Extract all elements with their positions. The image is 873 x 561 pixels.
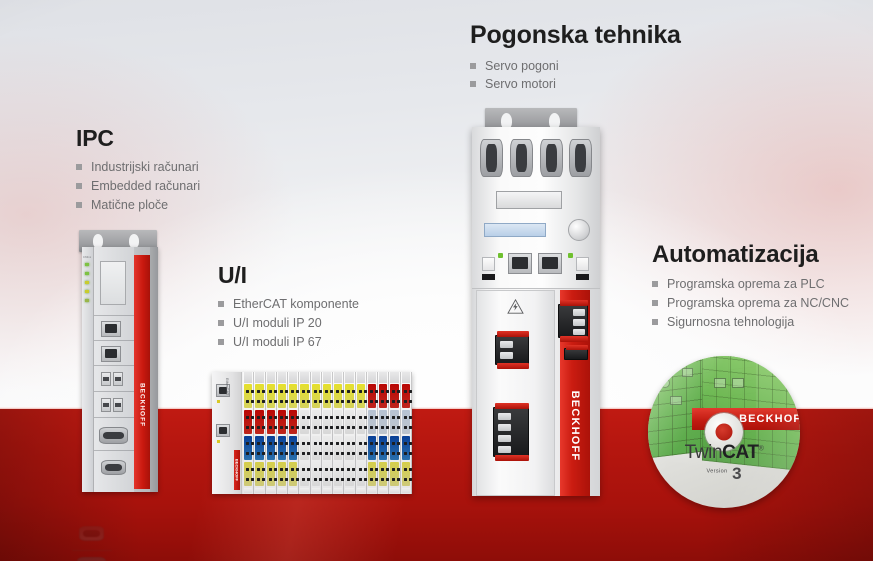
port-blank-cover — [482, 257, 495, 271]
terminal-contact-pin — [336, 452, 339, 455]
drive-ethercat-port-row — [482, 251, 590, 277]
terminal-band — [267, 436, 275, 460]
ipc-side-panel — [150, 247, 158, 492]
io-terminal-module — [266, 372, 277, 494]
terminal-band — [345, 410, 353, 434]
list-item[interactable]: Matične ploče — [76, 196, 200, 215]
terminal-band — [312, 410, 320, 434]
terminal-label-strip — [255, 488, 263, 493]
terminal-label-strip — [379, 488, 387, 493]
bracket-keyhole-icon — [93, 234, 103, 248]
terminal-band — [312, 384, 320, 408]
ethernet-port-icon — [538, 253, 562, 274]
terminal-contact-pin — [325, 426, 328, 429]
terminal-band — [334, 436, 342, 460]
plc-symbol-icon — [714, 378, 726, 388]
terminal-cap — [289, 372, 297, 383]
terminal-band — [323, 384, 331, 408]
panel-divider — [94, 315, 134, 316]
status-led-icon — [85, 272, 89, 275]
high-voltage-warning-icon — [507, 299, 524, 314]
terminal-contact-pin — [347, 452, 350, 455]
bullet-icon — [76, 202, 82, 208]
ipc-housing: C60xx — [82, 247, 158, 492]
terminal-contact-pin — [404, 400, 407, 403]
ethernet-port-icon — [101, 346, 121, 362]
terminal-contact-pin — [359, 426, 362, 429]
panel-marker — [576, 274, 589, 280]
dsub-connector-icon — [569, 139, 592, 177]
coupler-protocol-label: EtherCAT — [225, 378, 230, 395]
plc-symbol-icon — [682, 368, 693, 377]
terminal-contact-pin — [404, 390, 407, 393]
terminal-band — [368, 462, 376, 486]
coupler-brand-text: BECKHOFF — [235, 459, 240, 481]
ipc-brand-stripe: BECKHOFF — [134, 255, 150, 489]
list-item-label: Matične ploče — [91, 198, 168, 212]
bullet-icon — [470, 63, 476, 69]
terminal-contact-pin — [246, 390, 249, 393]
bullet-icon — [652, 281, 658, 287]
terminal-contact-pin — [291, 390, 294, 393]
list-item-label: Servo motori — [485, 77, 556, 91]
terminal-contact-pin — [302, 478, 305, 481]
panel-divider — [94, 391, 134, 392]
terminal-band — [402, 410, 410, 434]
ipc-brand-text: BECKHOFF — [139, 383, 146, 427]
terminal-label-strip — [267, 488, 275, 493]
ipc-terminal-header — [100, 261, 126, 305]
version-number: 3 — [732, 464, 741, 483]
terminal-contact-pin — [370, 478, 373, 481]
terminal-band — [357, 384, 365, 408]
io-terminal-module — [367, 372, 378, 494]
usb-port-icon — [113, 398, 123, 412]
terminal-band — [390, 384, 398, 408]
terminal-contact-pin — [314, 400, 317, 403]
terminal-contact-pin — [409, 478, 412, 481]
usb-port-icon — [101, 398, 111, 412]
terminal-contact-pin — [359, 468, 362, 471]
terminal-label-strip — [390, 488, 398, 493]
terminal-contact-pin — [302, 426, 305, 429]
terminal-contact-pin — [370, 426, 373, 429]
plc-symbol-icon — [670, 396, 682, 405]
section-list-automation: Programska oprema za PLC Programska opre… — [652, 275, 849, 331]
terminal-contact-pin — [325, 442, 328, 445]
terminal-contact-pin — [404, 442, 407, 445]
drive-brand-text: BECKHOFF — [569, 391, 581, 462]
terminal-contact-pin — [257, 416, 260, 419]
usb-port-icon — [101, 372, 111, 386]
terminal-contact-pin — [302, 468, 305, 471]
terminal-contact-pin — [409, 426, 412, 429]
dsub-connector-icon — [510, 139, 533, 177]
terminal-contact-pin — [409, 416, 412, 419]
terminal-band — [300, 436, 308, 460]
dsub-connector-icon — [540, 139, 563, 177]
bracket-keyhole-icon — [129, 234, 139, 248]
terminal-contact-pin — [409, 468, 412, 471]
io-terminal-module — [389, 372, 400, 494]
poster-stage: C60xx — [0, 0, 873, 561]
terminal-contact-pin — [392, 478, 395, 481]
terminal-contact-pin — [325, 452, 328, 455]
terminal-contact-pin — [359, 478, 362, 481]
terminal-contact-pin — [336, 426, 339, 429]
drive-connector-panel — [472, 127, 600, 289]
terminal-contact-pin — [381, 426, 384, 429]
list-item-label: Servo pogoni — [485, 59, 559, 73]
list-item-label: Sigurnosna tehnologija — [667, 315, 794, 329]
section-title-automation: Automatizacija — [652, 242, 849, 268]
terminal-band — [278, 436, 286, 460]
terminal-cap — [255, 372, 263, 383]
io-terminal-module — [378, 372, 389, 494]
terminal-label-strip — [334, 488, 342, 493]
motor-output-terminal — [558, 304, 588, 338]
terminal-contact-pin — [257, 468, 260, 471]
bullet-icon — [470, 81, 476, 87]
terminal-band — [379, 462, 387, 486]
terminal-contact-pin — [257, 478, 260, 481]
terminal-contact-pin — [269, 442, 272, 445]
ethercat-coupler: EtherCAT BECKHOFF — [212, 372, 242, 494]
terminal-band — [368, 410, 376, 434]
list-item[interactable]: Servo motori — [470, 75, 681, 94]
section-list-io: EtherCAT komponente U/I moduli IP 20 U/I… — [218, 295, 359, 351]
io-terminal-module — [288, 372, 299, 494]
serial-port-icon — [101, 460, 126, 475]
terminal-contact-pin — [280, 416, 283, 419]
panel-divider — [94, 340, 134, 341]
terminal-contact-pin — [404, 452, 407, 455]
terminal-band — [289, 462, 297, 486]
usb-port-icon — [113, 372, 123, 386]
panel-divider — [94, 417, 134, 418]
terminal-label-strip — [289, 488, 297, 493]
terminal-band — [368, 436, 376, 460]
terminal-contact-pin — [280, 452, 283, 455]
terminal-contact-pin — [269, 452, 272, 455]
bullet-icon — [218, 301, 224, 307]
list-item-label: Embedded računari — [91, 179, 200, 193]
terminal-contact-pin — [257, 400, 260, 403]
terminal-band — [379, 410, 387, 434]
terminal-band — [255, 384, 263, 408]
terminal-band — [312, 436, 320, 460]
terminal-contact-pin — [392, 400, 395, 403]
terminal-band — [255, 462, 263, 486]
terminal-cap — [402, 372, 410, 383]
terminal-label-strip — [368, 488, 376, 493]
terminal-contact-pin — [325, 416, 328, 419]
terminal-band — [323, 410, 331, 434]
io-terminal-module — [299, 372, 310, 494]
terminal-contact-pin — [370, 468, 373, 471]
section-title-ipc: IPC — [76, 126, 200, 151]
list-item-label: Programska oprema za NC/CNC — [667, 296, 849, 310]
list-item-label: U/I moduli IP 67 — [233, 335, 322, 349]
terminal-contact-pin — [325, 468, 328, 471]
list-item[interactable]: Embedded računari — [76, 177, 200, 196]
list-item[interactable]: Servo pogoni — [470, 57, 681, 76]
section-ipc: IPC Industrijski računari Embedded račun… — [76, 126, 200, 215]
terminal-contact-pin — [359, 442, 362, 445]
terminal-cap — [267, 372, 275, 383]
terminal-contact-pin — [359, 416, 362, 419]
drive-info-label — [484, 223, 546, 237]
list-item[interactable]: U/I moduli IP 67 — [218, 333, 359, 352]
twincat-wordmark-light: Twin — [685, 442, 722, 463]
terminal-band — [379, 384, 387, 408]
status-led-icon — [85, 290, 89, 293]
terminal-band — [289, 436, 297, 460]
terminal-contact-pin — [302, 416, 305, 419]
drive-lower-panel — [476, 290, 555, 496]
terminal-contact-pin — [291, 452, 294, 455]
terminal-contact-pin — [325, 400, 328, 403]
section-io: U/I EtherCAT komponente U/I moduli IP 20… — [218, 263, 359, 352]
terminal-contact-pin — [347, 390, 350, 393]
list-item[interactable]: Programska oprema za NC/CNC — [652, 294, 849, 313]
terminal-cap — [334, 372, 342, 383]
terminal-contact-pin — [370, 400, 373, 403]
terminal-contact-pin — [409, 452, 412, 455]
terminal-contact-pin — [280, 400, 283, 403]
terminal-contact-pin — [246, 452, 249, 455]
trademark-symbol: ® — [759, 446, 764, 453]
terminal-contact-pin — [246, 468, 249, 471]
terminal-band — [255, 436, 263, 460]
terminal-contact-pin — [291, 468, 294, 471]
terminal-contact-pin — [392, 416, 395, 419]
terminal-contact-pin — [314, 442, 317, 445]
terminal-band — [345, 462, 353, 486]
dc-power-terminal — [495, 335, 529, 365]
port-blank-cover — [576, 257, 589, 271]
terminal-contact-pin — [336, 478, 339, 481]
dsub-connector-icon — [480, 139, 503, 177]
ipc-model-text: C60xx — [83, 256, 91, 259]
terminal-contact-pin — [269, 400, 272, 403]
terminal-band — [357, 462, 365, 486]
terminal-contact-pin — [314, 452, 317, 455]
io-terminal-module — [322, 372, 333, 494]
terminal-contact-pin — [370, 416, 373, 419]
terminal-contact-pin — [336, 416, 339, 419]
dvi-port-icon — [99, 427, 128, 444]
disc-brand-text: BECKHOFF — [739, 413, 800, 425]
terminal-contact-pin — [246, 416, 249, 419]
terminal-contact-pin — [246, 426, 249, 429]
terminal-contact-pin — [302, 390, 305, 393]
terminal-contact-pin — [314, 426, 317, 429]
twincat-wordmark: TwinCAT® — [648, 442, 800, 464]
terminal-contact-pin — [269, 426, 272, 429]
ethernet-port-icon — [216, 424, 230, 437]
disc-surface: BECKHOFF TwinCAT® Version 3 — [648, 356, 800, 508]
drive-terminal-block — [496, 191, 562, 209]
terminal-contact-pin — [269, 478, 272, 481]
terminal-contact-pin — [404, 478, 407, 481]
terminal-contact-pin — [404, 468, 407, 471]
terminal-cap — [244, 372, 252, 383]
io-terminal-row — [243, 372, 412, 494]
status-led-icon — [217, 440, 220, 443]
terminal-label-strip — [323, 488, 331, 493]
panel-divider — [94, 365, 134, 366]
io-terminal-module — [401, 372, 412, 494]
terminal-band — [312, 462, 320, 486]
terminal-band — [323, 462, 331, 486]
terminal-contact-pin — [381, 390, 384, 393]
terminal-contact-pin — [257, 452, 260, 455]
ipc-connector-face — [94, 247, 134, 492]
list-item[interactable]: Sigurnosna tehnologija — [652, 313, 849, 332]
io-terminal-module — [311, 372, 322, 494]
list-item[interactable]: U/I moduli IP 20 — [218, 314, 359, 333]
terminal-contact-pin — [347, 400, 350, 403]
terminal-contact-pin — [325, 390, 328, 393]
terminal-contact-pin — [409, 400, 412, 403]
terminal-band — [255, 410, 263, 434]
status-led-icon — [85, 299, 89, 302]
terminal-label-strip — [278, 488, 286, 493]
terminal-band — [244, 384, 252, 408]
terminal-contact-pin — [302, 400, 305, 403]
terminal-cap — [345, 372, 353, 383]
drive-rotary-knob[interactable] — [568, 219, 590, 241]
ethernet-port-icon — [101, 321, 121, 337]
coupler-brand-stripe: BECKHOFF — [234, 450, 240, 490]
terminal-contact-pin — [280, 478, 283, 481]
terminal-band — [267, 410, 275, 434]
status-led-icon — [85, 263, 89, 266]
terminal-contact-pin — [246, 400, 249, 403]
io-terminal-module — [243, 372, 254, 494]
terminal-contact-pin — [359, 390, 362, 393]
terminal-contact-pin — [291, 442, 294, 445]
terminal-cap — [300, 372, 308, 383]
section-list-ipc: Industrijski računari Embedded računari … — [76, 158, 200, 214]
terminal-band — [334, 462, 342, 486]
terminal-contact-pin — [370, 452, 373, 455]
terminal-contact-pin — [370, 442, 373, 445]
terminal-band — [368, 384, 376, 408]
terminal-band — [390, 462, 398, 486]
terminal-contact-pin — [392, 442, 395, 445]
brake-terminal — [564, 348, 588, 360]
terminal-band — [278, 410, 286, 434]
panel-marker — [482, 274, 495, 280]
terminal-band — [300, 384, 308, 408]
terminal-contact-pin — [269, 390, 272, 393]
bullet-icon — [218, 320, 224, 326]
terminal-cap — [312, 372, 320, 383]
list-item-label: Industrijski računari — [91, 160, 199, 174]
terminal-band — [402, 462, 410, 486]
terminal-band — [334, 384, 342, 408]
section-title-io: U/I — [218, 263, 359, 288]
terminal-band — [402, 384, 410, 408]
terminal-contact-pin — [291, 400, 294, 403]
bullet-icon — [652, 319, 658, 325]
list-item[interactable]: EtherCAT komponente — [218, 295, 359, 314]
terminal-contact-pin — [336, 390, 339, 393]
terminal-label-strip — [300, 488, 308, 493]
terminal-contact-pin — [347, 478, 350, 481]
terminal-band — [323, 436, 331, 460]
terminal-contact-pin — [347, 468, 350, 471]
terminal-contact-pin — [359, 452, 362, 455]
plc-symbol-icon — [660, 378, 670, 388]
terminal-band — [345, 384, 353, 408]
version-label: Version — [706, 469, 727, 475]
terminal-contact-pin — [409, 390, 412, 393]
terminal-band — [390, 410, 398, 434]
terminal-contact-pin — [347, 426, 350, 429]
io-terminal-module — [356, 372, 367, 494]
terminal-contact-pin — [359, 400, 362, 403]
dsub-connector-row — [480, 139, 592, 179]
product-servo-drive: BECKHOFF — [472, 108, 600, 496]
list-item[interactable]: Industrijski računari — [76, 158, 200, 177]
drive-housing: BECKHOFF — [472, 127, 600, 496]
terminal-cap — [323, 372, 331, 383]
terminal-contact-pin — [409, 442, 412, 445]
terminal-band — [379, 436, 387, 460]
terminal-contact-pin — [257, 426, 260, 429]
terminal-cap — [357, 372, 365, 383]
terminal-band — [402, 436, 410, 460]
terminal-contact-pin — [314, 416, 317, 419]
ipc-status-led-column: C60xx — [82, 247, 94, 492]
terminal-contact-pin — [246, 442, 249, 445]
twincat-version: Version 3 — [648, 464, 800, 484]
terminal-contact-pin — [280, 442, 283, 445]
terminal-contact-pin — [291, 478, 294, 481]
terminal-label-strip — [312, 488, 320, 493]
plc-symbol-icon — [732, 378, 744, 388]
terminal-contact-pin — [370, 390, 373, 393]
io-terminal-module — [333, 372, 344, 494]
terminal-band — [357, 436, 365, 460]
terminal-band — [267, 384, 275, 408]
terminal-contact-pin — [257, 442, 260, 445]
status-led-icon — [568, 253, 573, 258]
terminal-contact-pin — [404, 416, 407, 419]
ethernet-port-icon — [508, 253, 532, 274]
product-twincat-disc: BECKHOFF TwinCAT® Version 3 — [648, 356, 800, 508]
terminal-contact-pin — [381, 400, 384, 403]
list-item[interactable]: Programska oprema za PLC — [652, 275, 849, 294]
terminal-label-strip — [357, 488, 365, 493]
terminal-contact-pin — [381, 478, 384, 481]
terminal-contact-pin — [381, 442, 384, 445]
io-terminal-module — [254, 372, 265, 494]
status-led-icon — [217, 400, 220, 403]
terminal-cap — [379, 372, 387, 383]
section-list-drive: Servo pogoni Servo motori — [470, 57, 681, 95]
product-industrial-pc: C60xx — [72, 230, 168, 492]
terminal-contact-pin — [314, 478, 317, 481]
terminal-band — [278, 462, 286, 486]
terminal-label-strip — [345, 488, 353, 493]
terminal-contact-pin — [314, 390, 317, 393]
terminal-contact-pin — [314, 468, 317, 471]
terminal-contact-pin — [381, 416, 384, 419]
